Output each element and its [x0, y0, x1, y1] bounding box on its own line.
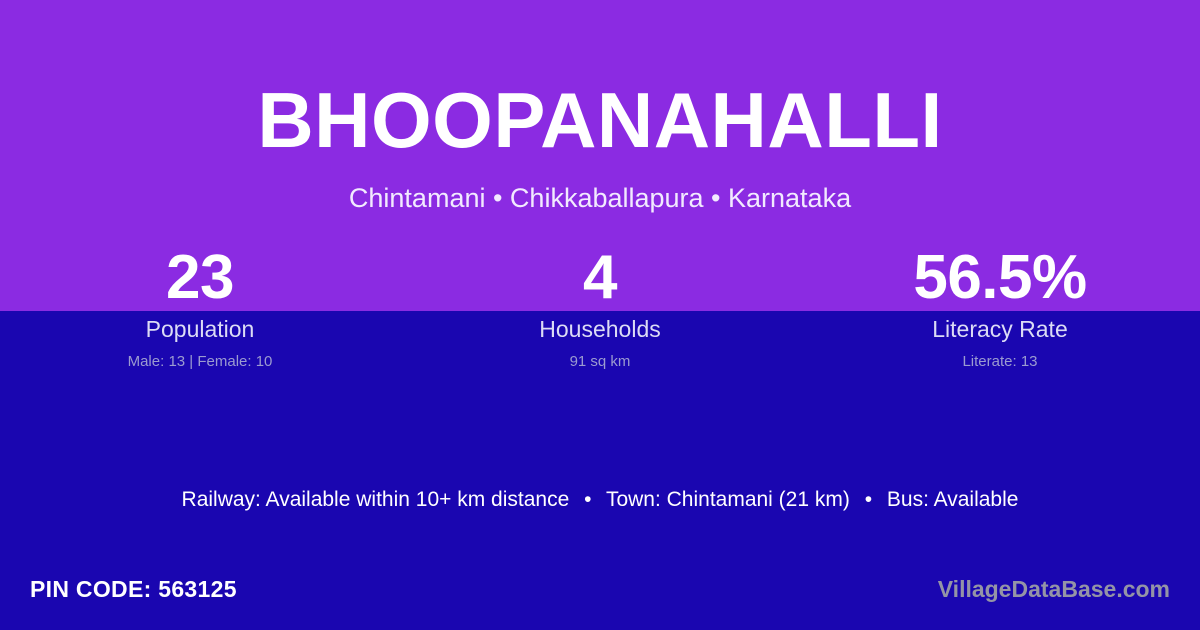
infra-bus: Bus: Available — [887, 488, 1019, 511]
stat-value: 56.5% — [800, 246, 1200, 310]
infra-town: Town: Chintamani (21 km) — [606, 488, 850, 511]
site-watermark: VillageDataBase.com — [938, 574, 1170, 604]
village-info-card: BHOOPANAHALLI Chintamani • Chikkaballapu… — [0, 0, 1200, 630]
stat-label: Literacy Rate — [800, 310, 1200, 344]
stats-row: 23 Population Male: 13 | Female: 10 4 Ho… — [0, 246, 1200, 373]
stat-sublabel: Literate: 13 — [800, 344, 1200, 373]
stat-sublabel: Male: 13 | Female: 10 — [0, 344, 400, 373]
infra-separator-1: • — [575, 488, 600, 511]
stat-label: Households — [400, 310, 800, 344]
pin-code-label: PIN CODE: 563125 — [30, 574, 237, 604]
infrastructure-line: Railway: Available within 10+ km distanc… — [0, 485, 1200, 515]
breadcrumb-location: Chintamani • Chikkaballapura • Karnataka — [0, 180, 1200, 216]
stat-population: 23 Population Male: 13 | Female: 10 — [0, 246, 400, 373]
stat-label: Population — [0, 310, 400, 344]
infra-railway: Railway: Available within 10+ km distanc… — [182, 488, 570, 511]
stat-value: 4 — [400, 246, 800, 310]
infra-separator-2: • — [856, 488, 881, 511]
stat-literacy-rate: 56.5% Literacy Rate Literate: 13 — [800, 246, 1200, 373]
page-title: BHOOPANAHALLI — [0, 76, 1200, 164]
stat-value: 23 — [0, 246, 400, 310]
stat-households: 4 Households 91 sq km — [400, 246, 800, 373]
stat-sublabel: 91 sq km — [400, 344, 800, 373]
